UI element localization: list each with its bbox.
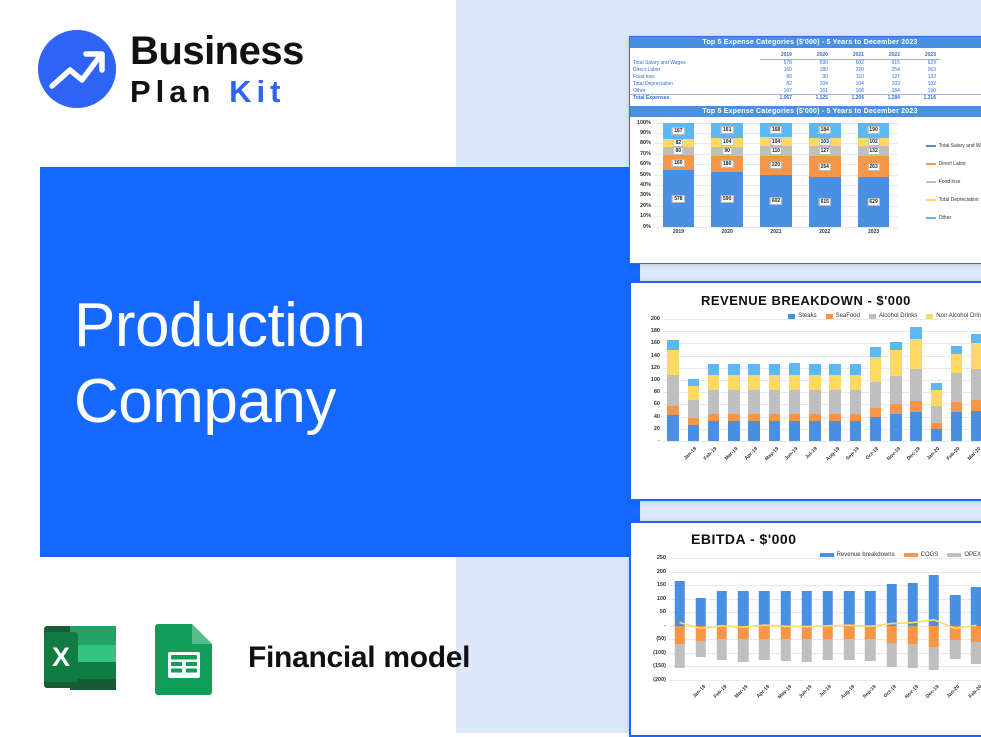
- bar-segment: [870, 382, 882, 408]
- bar-segment: [748, 375, 760, 390]
- bar-segment: [829, 364, 841, 376]
- bar-segment: [850, 421, 862, 441]
- bar-column: 1678280160578: [663, 123, 695, 227]
- bar-segment: [688, 418, 700, 425]
- bar-segment: 80: [663, 147, 695, 155]
- bar-column: [708, 319, 720, 441]
- axis-category-label: May-19: [764, 446, 780, 462]
- axis-tick-label: 60: [654, 401, 663, 407]
- legend-item: Direct Labor: [926, 161, 981, 167]
- data-label: 184: [819, 126, 831, 134]
- bar-segment: [667, 340, 679, 350]
- bar-column: 168104110220602: [760, 123, 792, 227]
- bar-segment: [951, 346, 963, 355]
- cell: 263: [904, 67, 940, 74]
- bar-segment: [728, 421, 740, 441]
- bar-segment: [708, 421, 720, 441]
- data-label: 263: [867, 163, 879, 171]
- bar-segment: [748, 421, 760, 441]
- cell: 1,316: [904, 94, 940, 101]
- bar-segment: [910, 327, 922, 339]
- axis-category-label: 2022: [809, 229, 841, 235]
- bar-segment: [951, 354, 963, 372]
- axis-category-label: Oct-19: [882, 684, 897, 699]
- bar-segment: 161: [711, 123, 743, 138]
- cell: 82: [760, 80, 796, 87]
- bar-column: [789, 319, 801, 441]
- expense-table-title: Top 5 Expense Categories ($'000) - 5 Yea…: [630, 37, 981, 48]
- google-sheets-icon: [144, 618, 224, 698]
- data-label: 90: [722, 147, 732, 155]
- bar-segment: [931, 390, 943, 405]
- bar-segment: [870, 408, 882, 417]
- data-label: 590: [721, 195, 733, 203]
- data-label: 104: [770, 138, 782, 146]
- footer-label: Financial model: [248, 641, 470, 675]
- axis-category-label: Aug-19: [840, 684, 856, 700]
- svg-text:X: X: [52, 642, 70, 672]
- bar-segment: [971, 334, 981, 344]
- cell: 602: [832, 60, 868, 67]
- axis-category-label: Oct-19: [865, 446, 880, 461]
- revenue-breakdown-card: REVENUE BREAKDOWN - $'000 SteaksSeaFoodA…: [629, 281, 981, 501]
- bar-segment: [688, 386, 700, 400]
- bar-segment: [688, 379, 700, 386]
- legend-item: Other: [926, 215, 981, 221]
- ebitda-line: [669, 558, 981, 680]
- bar-segment: [748, 414, 760, 421]
- axis-tick-label: (200): [653, 677, 669, 683]
- cell: 1,067: [760, 94, 796, 101]
- legend-label: Direct Labor: [939, 161, 966, 167]
- cell: 110: [832, 74, 868, 81]
- bar-column: [809, 319, 821, 441]
- bar-column: [769, 319, 781, 441]
- axis-tick-label: 40: [654, 414, 663, 420]
- axis-category-label: Mar-19: [734, 684, 750, 700]
- slide-canvas: Business Plan Kit Production Company X: [0, 0, 981, 733]
- axis-tick-label: 200: [651, 316, 663, 322]
- bar-segment: [809, 364, 821, 376]
- bar-segment: 82: [663, 139, 695, 147]
- axis-category-label: Feb-19: [703, 446, 719, 462]
- bar-segment: [667, 406, 679, 416]
- expense-table: 2019 2020 2021 2022 2023 Total Salary an…: [630, 51, 981, 102]
- legend-label: Other: [939, 215, 952, 221]
- bar-segment: [688, 425, 700, 441]
- bar-column: [971, 319, 981, 441]
- axis-category-label: Sep-19: [861, 684, 877, 700]
- cell: 104: [832, 80, 868, 87]
- bar-segment: [910, 401, 922, 412]
- microsoft-excel-icon: X: [40, 618, 120, 698]
- bar-segment: [971, 411, 981, 442]
- bar-segment: [789, 390, 801, 413]
- row-label: Direct Labor: [630, 67, 760, 74]
- axis-tick-label: (50): [656, 636, 669, 642]
- bar-column: [931, 319, 943, 441]
- brand-name-line2: Plan Kit: [130, 76, 304, 107]
- legend-item: Total Depreciation: [926, 197, 981, 203]
- axis-tick-label: 120: [651, 365, 663, 371]
- bar-segment: 602: [760, 175, 792, 227]
- axis-tick-label: 80%: [640, 140, 654, 146]
- bar-segment: [910, 369, 922, 401]
- bar-column: [870, 319, 882, 441]
- data-label: 160: [672, 159, 684, 167]
- bar-segment: [789, 375, 801, 390]
- bar-column: [667, 319, 679, 441]
- bar-segment: [890, 350, 902, 376]
- bar-segment: [728, 364, 740, 376]
- bar-segment: [748, 364, 760, 376]
- axis-tick-label: 0%: [643, 224, 654, 230]
- cell: 168: [832, 87, 868, 94]
- axis-tick-label: 100: [657, 596, 669, 602]
- ebitda-card: EBITDA - $'000 Revenue breakdownsCOGSOPE…: [629, 521, 981, 737]
- data-label: 161: [721, 126, 733, 134]
- row-label: Other: [630, 87, 760, 94]
- bar-column: [850, 319, 862, 441]
- axis-tick-label: 160: [651, 340, 663, 346]
- bar-segment: [850, 414, 862, 421]
- bar-segment: [829, 414, 841, 421]
- cell: 220: [832, 67, 868, 74]
- data-label: 132: [867, 147, 879, 155]
- legend-label: Total Depreciation: [939, 197, 979, 203]
- data-label: 602: [770, 197, 782, 205]
- bar-column: [951, 319, 963, 441]
- cell: 167: [760, 87, 796, 94]
- revenue-chart-title: REVENUE BREAKDOWN - $'000: [701, 293, 981, 308]
- data-label: 254: [819, 163, 831, 171]
- row-label: Total Depreciation: [630, 80, 760, 87]
- axis-tick-label: 20: [654, 426, 663, 432]
- axis-category-label: Jan-20: [946, 684, 961, 699]
- bar-segment: [829, 390, 841, 413]
- legend-label: Total Salary and Wag: [939, 143, 981, 149]
- table-row: Other 167 161 168 184 190: [630, 87, 981, 94]
- bar-segment: [850, 375, 862, 390]
- bar-segment: [951, 412, 963, 441]
- ebitda-chart-title: EBITDA - $'000: [691, 531, 981, 547]
- bar-segment: [971, 369, 981, 400]
- bar-segment: [809, 414, 821, 421]
- bar-segment: [890, 414, 902, 441]
- axis-category-label: Mar-19: [723, 446, 739, 462]
- table-total-row: Total Expenses 1,067 1,125 1,204 1,284 1…: [630, 94, 981, 101]
- bar-column: [829, 319, 841, 441]
- axis-category-label: Jun-19: [798, 684, 814, 700]
- data-label: 629: [867, 198, 879, 206]
- bar-segment: 615: [809, 177, 841, 227]
- bar-segment: 132: [858, 146, 890, 156]
- bar-segment: [931, 406, 943, 423]
- row-label: Total Expenses: [630, 94, 760, 101]
- axis-tick-label: 40%: [640, 182, 654, 188]
- brand-plan-text: Plan: [130, 74, 229, 109]
- axis-category-label: Jul-19: [804, 446, 818, 460]
- cell: 578: [760, 60, 796, 67]
- axis-tick-label: 100%: [637, 120, 654, 126]
- bar-segment: [870, 347, 882, 357]
- brand-kit-text: Kit: [229, 74, 285, 109]
- cell: 127: [868, 74, 904, 81]
- bar-segment: [910, 339, 922, 370]
- col-2023: 2023: [904, 51, 940, 60]
- axis-tick-label: -: [664, 623, 669, 629]
- axis-category-label: Jun-19: [784, 446, 800, 462]
- bar-segment: [829, 421, 841, 441]
- revenue-chart: 20018016014012010080604020- Jan-19Feb-19…: [631, 311, 981, 471]
- brand-name-line1: Business: [130, 31, 304, 71]
- bar-segment: 168: [760, 123, 792, 138]
- axis-tick-label: (150): [653, 663, 669, 669]
- bar-segment: 104: [711, 138, 743, 148]
- cell: 180: [796, 67, 832, 74]
- axis-category-label: Jan-20: [926, 446, 941, 461]
- table-row: Food loss 80 90 110 127 132: [630, 74, 981, 81]
- cell: 254: [868, 67, 904, 74]
- data-label: 167: [672, 127, 684, 135]
- axis-category-label: Dec-19: [925, 684, 941, 700]
- bar-segment: [850, 390, 862, 413]
- bar-segment: [951, 402, 963, 412]
- expense-categories-card: Top 5 Expense Categories ($'000) - 5 Yea…: [629, 36, 981, 264]
- data-label: 168: [770, 126, 782, 134]
- bar-segment: 629: [858, 177, 890, 227]
- col-2021: 2021: [832, 51, 868, 60]
- bar-segment: [708, 364, 720, 376]
- axis-tick-label: 150: [657, 582, 669, 588]
- bar-segment: [708, 390, 720, 413]
- axis-category-label: Aug-19: [825, 446, 841, 462]
- gridline: [654, 227, 898, 228]
- bar-segment: 167: [663, 123, 695, 139]
- bar-segment: [667, 350, 679, 375]
- ebitda-chart: 25020015010050-(50)(100)(150)(200) Jan-1…: [631, 554, 981, 712]
- format-footer: X Financial model: [40, 618, 470, 698]
- expense-chart: 1678280160578161104901805901681041102206…: [630, 117, 981, 247]
- bar-segment: [728, 414, 740, 421]
- bar-segment: [931, 383, 943, 390]
- bar-segment: 90: [711, 147, 743, 155]
- axis-category-label: Jan-19: [692, 684, 707, 699]
- row-label: Total Salary and Wages: [630, 60, 760, 67]
- bar-segment: 254: [809, 156, 841, 177]
- cell: 184: [868, 87, 904, 94]
- cell: 590: [796, 60, 832, 67]
- axis-category-label: Nov-19: [904, 684, 920, 700]
- bar-segment: [870, 357, 882, 383]
- bar-segment: [971, 400, 981, 411]
- growth-arrow-icon: [38, 30, 116, 108]
- data-label: 578: [672, 195, 684, 203]
- brand-logo: Business Plan Kit: [38, 30, 304, 108]
- bar-segment: [789, 363, 801, 375]
- bar-segment: [971, 343, 981, 369]
- axis-tick-label: 200: [657, 569, 669, 575]
- cell: 1,204: [832, 94, 868, 101]
- axis-category-label: Sep-19: [845, 446, 861, 462]
- bar-segment: 263: [858, 156, 890, 177]
- axis-tick-label: 100: [651, 377, 663, 383]
- data-label: 180: [721, 160, 733, 168]
- bar-segment: [931, 429, 943, 441]
- page-title: Production Company: [74, 288, 594, 439]
- axis-category-label: Jul-19: [818, 684, 832, 698]
- axis-category-label: 2020: [711, 229, 743, 235]
- axis-category-label: Feb-19: [713, 684, 729, 700]
- bar-segment: [688, 400, 700, 418]
- bar-segment: [850, 364, 862, 376]
- bar-segment: [728, 390, 740, 413]
- data-label: 220: [770, 161, 782, 169]
- bar-segment: [728, 375, 740, 390]
- bar-segment: [769, 414, 781, 421]
- bar-segment: [789, 414, 801, 421]
- bar-segment: 590: [711, 172, 743, 227]
- bar-segment: [769, 375, 781, 390]
- bar-segment: [769, 421, 781, 441]
- legend-item: Food loss: [926, 179, 981, 185]
- bar-segment: [667, 415, 679, 441]
- bar-segment: [769, 364, 781, 376]
- cell: 103: [868, 80, 904, 87]
- cell: 104: [796, 80, 832, 87]
- legend-item: Total Salary and Wag: [926, 143, 981, 149]
- page-title-line1: Production: [74, 288, 594, 364]
- axis-category-label: 2019: [663, 229, 695, 235]
- data-label: 80: [674, 147, 684, 155]
- expense-chart-title: Top 5 Expense Categories ($'000) - 5 Yea…: [630, 106, 981, 117]
- axis-category-label: Apr-19: [755, 684, 770, 699]
- bar-segment: [951, 373, 963, 402]
- bar-segment: 102: [858, 138, 890, 146]
- legend-swatch: [926, 181, 936, 183]
- bar-column: 190102132263629: [858, 123, 890, 227]
- bar-segment: [910, 412, 922, 441]
- row-label: Food loss: [630, 74, 760, 81]
- expense-chart-legend: Total Salary and WagDirect LaborFood los…: [926, 143, 981, 221]
- axis-tick-label: 180: [651, 328, 663, 334]
- cell: 160: [760, 67, 796, 74]
- axis-tick-label: 250: [657, 555, 669, 561]
- table-header-row: 2019 2020 2021 2022 2023: [630, 51, 981, 60]
- axis-category-label: 2021: [760, 229, 792, 235]
- bar-segment: [789, 421, 801, 441]
- bar-segment: 578: [663, 170, 695, 226]
- axis-tick-label: 50%: [640, 172, 654, 178]
- table-row: Direct Labor 160 180 220 254 263: [630, 67, 981, 74]
- bar-column: 16110490180590: [711, 123, 743, 227]
- col-spacer: [940, 51, 981, 60]
- bar-segment: [809, 390, 821, 413]
- axis-tick-label: 140: [651, 353, 663, 359]
- axis-tick-label: 10%: [640, 213, 654, 219]
- bar-segment: [667, 375, 679, 406]
- cell: 161: [796, 87, 832, 94]
- bar-segment: 190: [858, 123, 890, 138]
- axis-category-label: Mar-20: [966, 446, 981, 462]
- bar-segment: 103: [809, 138, 841, 146]
- cell: 190: [904, 87, 940, 94]
- data-label: 190: [867, 126, 879, 134]
- axis-category-label: 2023: [858, 229, 890, 235]
- col-2022: 2022: [868, 51, 904, 60]
- bar-column: [910, 319, 922, 441]
- bar-segment: [870, 417, 882, 441]
- bar-column: [728, 319, 740, 441]
- col-2020: 2020: [796, 51, 832, 60]
- page-title-line2: Company: [74, 364, 594, 440]
- legend-swatch: [926, 163, 936, 165]
- bar-segment: 160: [663, 155, 695, 171]
- axis-category-label: Nov-19: [886, 446, 902, 462]
- col-2019: 2019: [760, 51, 796, 60]
- bar-segment: [809, 375, 821, 390]
- bar-segment: [890, 404, 902, 414]
- bar-segment: [708, 375, 720, 390]
- data-label: 110: [770, 147, 782, 155]
- axis-tick-label: (100): [653, 650, 669, 656]
- bar-segment: [829, 375, 841, 390]
- cell: 102: [904, 80, 940, 87]
- axis-tick-label: 30%: [640, 192, 654, 198]
- bar-segment: 104: [760, 137, 792, 146]
- bar-column: [890, 319, 902, 441]
- bar-segment: 127: [809, 146, 841, 156]
- bar-segment: [890, 376, 902, 403]
- legend-swatch: [926, 199, 936, 201]
- bar-segment: [890, 342, 902, 350]
- bar-column: [688, 319, 700, 441]
- legend-swatch: [926, 145, 936, 147]
- bar-segment: 110: [760, 146, 792, 156]
- axis-category-label: Dec-19: [906, 446, 922, 462]
- bar-segment: 180: [711, 156, 743, 173]
- table-row: Total Salary and Wages 578 590 602 615 6…: [630, 60, 981, 67]
- axis-tick-label: 90%: [640, 130, 654, 136]
- axis-category-label: Apr-19: [744, 446, 759, 461]
- gridline: [663, 441, 981, 442]
- axis-tick-label: 80: [654, 389, 663, 395]
- bar-segment: 184: [809, 123, 841, 138]
- legend-label: Food loss: [939, 179, 961, 185]
- bar-column: 184103127254615: [809, 123, 841, 227]
- axis-tick-label: 20%: [640, 203, 654, 209]
- bar-segment: [769, 390, 781, 413]
- axis-category-label: Feb-20: [967, 684, 981, 700]
- axis-tick-label: 50: [660, 609, 669, 615]
- cell: 615: [868, 60, 904, 67]
- axis-category-label: Feb-20: [946, 446, 962, 462]
- legend-swatch: [926, 217, 936, 219]
- cell: 1,125: [796, 94, 832, 101]
- bar-segment: [809, 421, 821, 441]
- bar-column: [748, 319, 760, 441]
- table-row: Total Depreciation 82 104 104 103 102: [630, 80, 981, 87]
- col-label: [630, 51, 760, 60]
- data-label: 82: [674, 139, 684, 147]
- axis-category-label: May-19: [777, 684, 793, 700]
- cell: 80: [760, 74, 796, 81]
- bar-segment: [748, 390, 760, 413]
- data-label: 104: [721, 138, 733, 146]
- gridline: [669, 680, 981, 681]
- cell: 90: [796, 74, 832, 81]
- bar-segment: 220: [760, 156, 792, 175]
